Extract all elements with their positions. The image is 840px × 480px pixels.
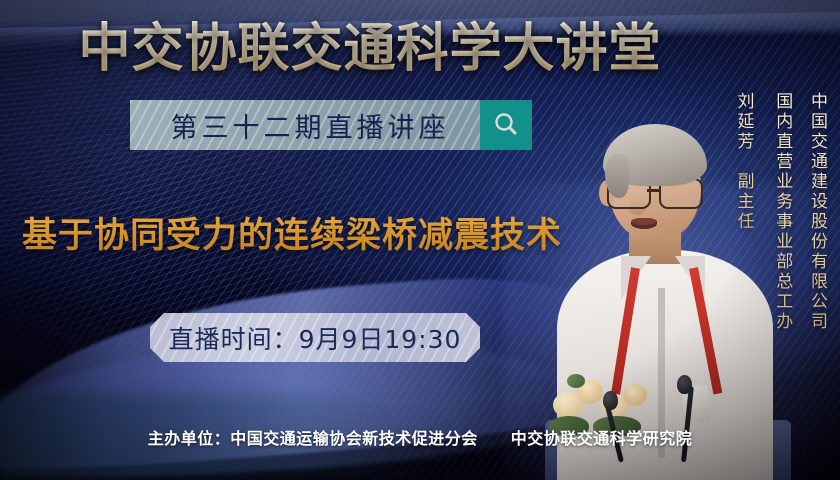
organizer-footer: 主办单位：中国交通运输协会新技术促进分会 中交协联交通科学研究院 <box>0 425 840 449</box>
speaker-hair <box>603 124 707 186</box>
search-icon <box>491 110 521 140</box>
live-time-banner: 直播时间：9月9日19:30 <box>150 313 480 362</box>
speaker-credentials: 刘延芳 副主任 国内直营业务事业部总工办 中国交通建设股份有限公司 <box>726 92 834 382</box>
speaker-mouth <box>631 218 657 229</box>
promo-poster: 中交协联交通科学大讲堂 第三十二期直播讲座 基于协同受力的连续梁桥减震技术 直播… <box>0 0 840 480</box>
episode-banner: 第三十二期直播讲座 <box>130 100 532 150</box>
speaker-organization: 中国交通建设股份有限公司 <box>799 92 834 332</box>
lecture-title: 基于协同受力的连续梁桥减震技术 <box>22 207 592 258</box>
flower <box>623 384 647 406</box>
foliage <box>567 374 585 388</box>
speaker-name-title: 刘延芳 副主任 <box>726 92 765 232</box>
page-title: 中交协联交通科学大讲堂 <box>0 20 740 78</box>
search-icon-button[interactable] <box>480 100 532 150</box>
microphone-head-left <box>603 391 618 410</box>
eyeglass-bridge <box>647 189 660 192</box>
live-time-label: 直播时间：9月9日19:30 <box>169 320 462 356</box>
microphone-head-right <box>677 375 692 394</box>
speaker-department: 国内直营业务事业部总工办 <box>764 92 799 332</box>
episode-label: 第三十二期直播讲座 <box>130 100 480 150</box>
